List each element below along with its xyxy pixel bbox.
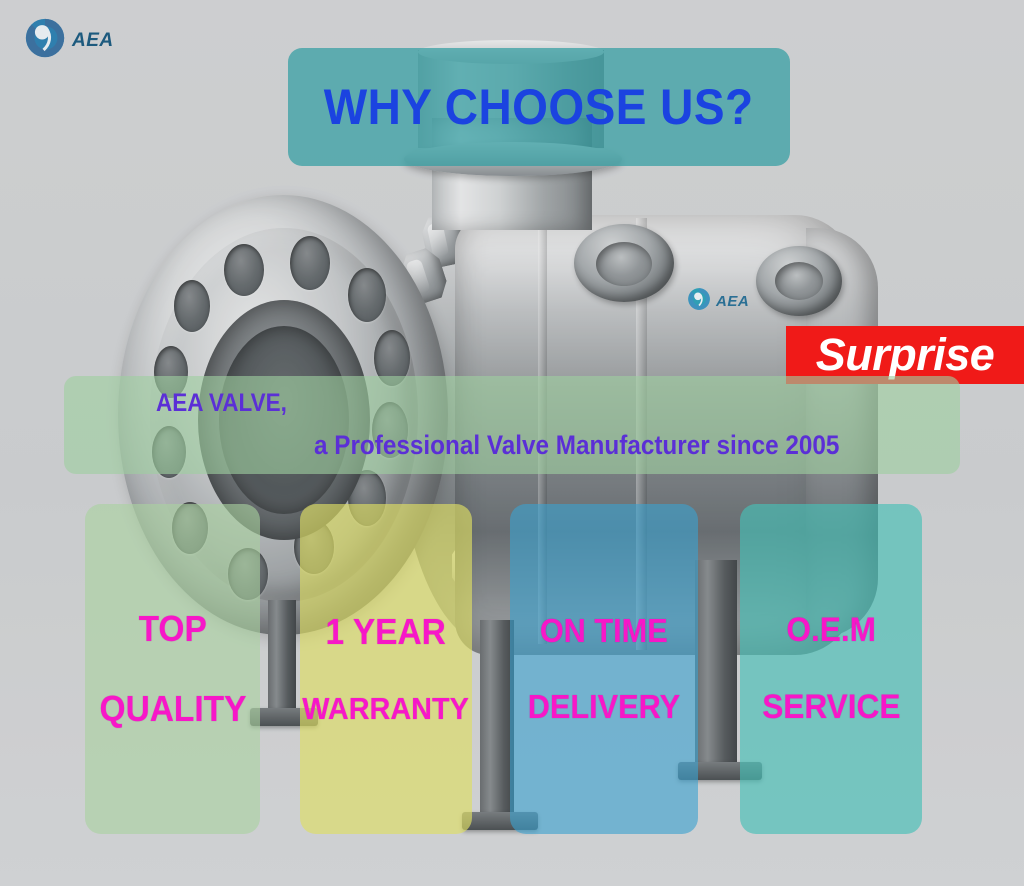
feature-card-line-2: WARRANTY	[303, 691, 470, 727]
feature-card-line-2: QUALITY	[99, 688, 246, 730]
feature-card-line-1: 1 YEAR	[326, 611, 446, 653]
feature-card-one-year-warranty[interactable]: 1 YEAR WARRANTY	[300, 504, 472, 834]
feature-card-oem-service[interactable]: O.E.M SERVICE	[740, 504, 922, 834]
feature-card-top-quality[interactable]: TOP QUALITY	[85, 504, 260, 834]
feature-card-line-1: O.E.M	[786, 611, 876, 650]
feature-card-line-1: ON TIME	[540, 612, 668, 650]
poster-canvas: AEA AEA WHY CHOOSE US? Surprise AEA VALV…	[0, 0, 1024, 886]
feature-card-line-2: DELIVERY	[528, 688, 680, 726]
feature-card-on-time-delivery[interactable]: ON TIME DELIVERY	[510, 504, 698, 834]
feature-card-line-2: SERVICE	[762, 688, 900, 727]
feature-card-line-1: TOP	[138, 608, 206, 650]
feature-card-row: TOP QUALITY 1 YEAR WARRANTY ON TIME DELI…	[0, 0, 1024, 886]
